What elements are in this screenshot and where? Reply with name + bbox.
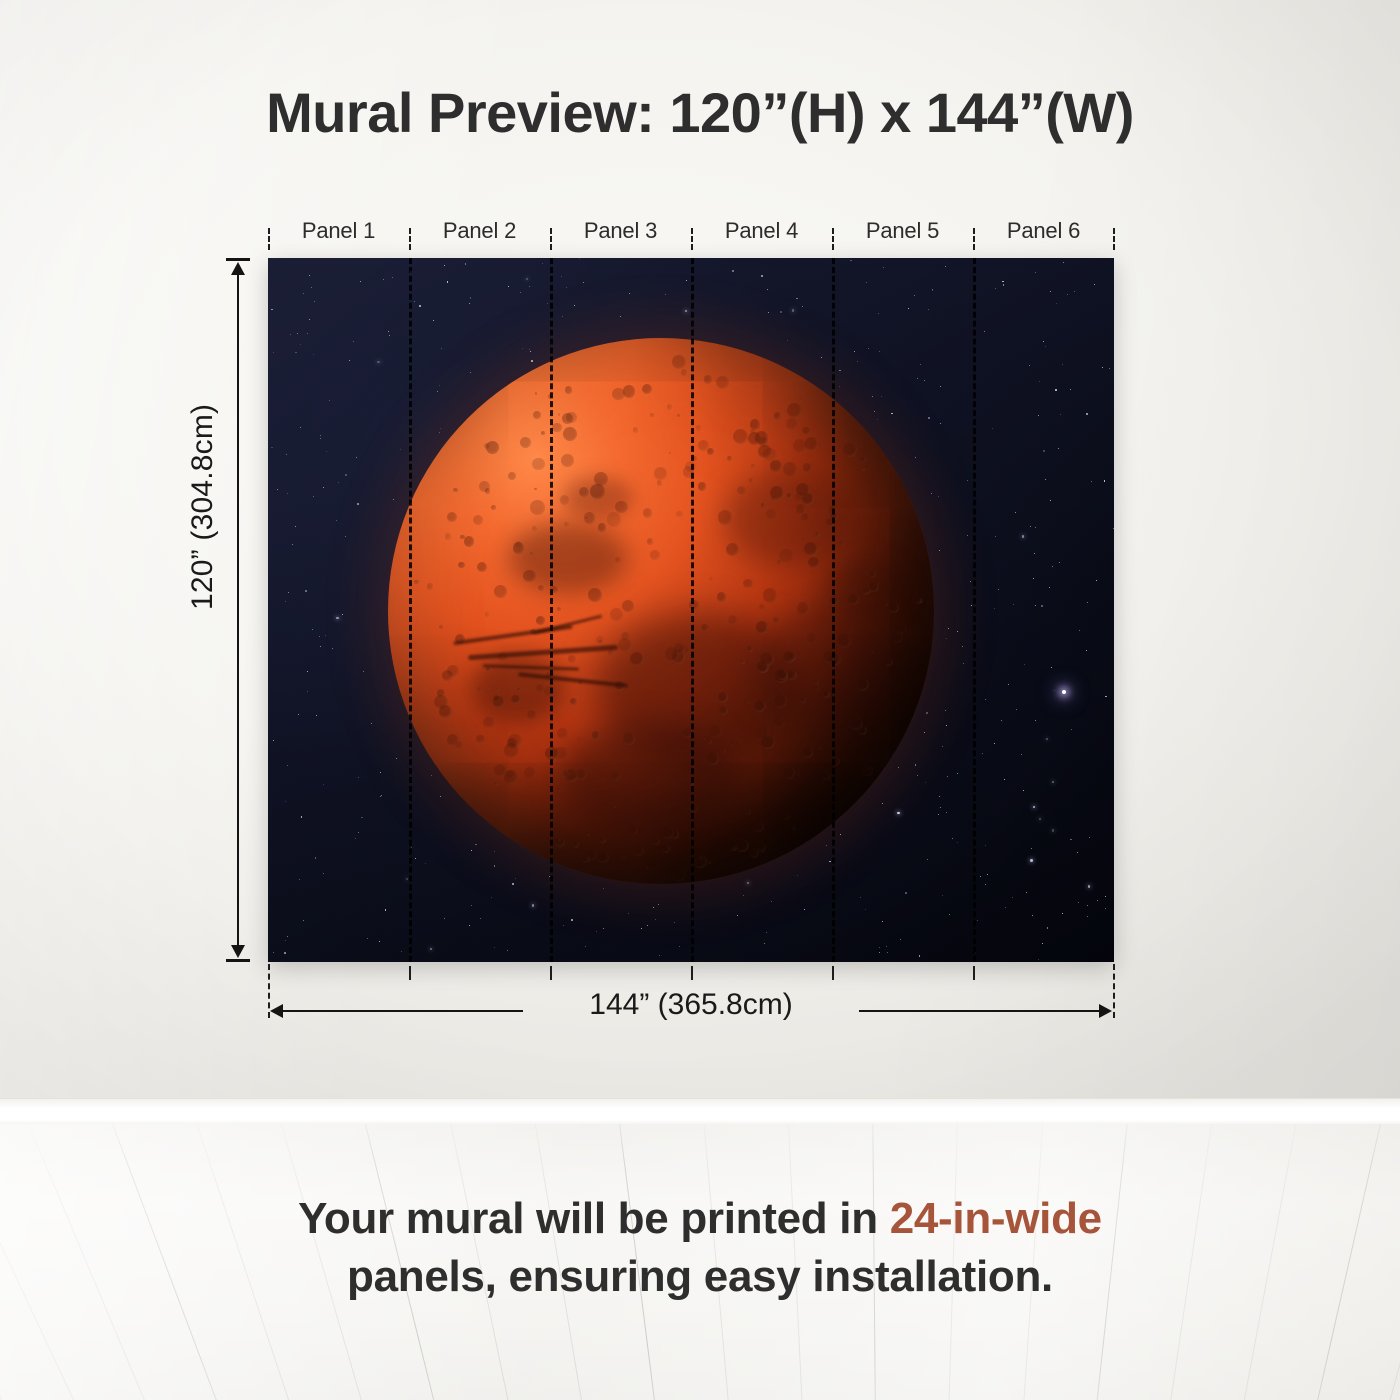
star [946,638,947,639]
star [957,842,958,843]
star [345,536,346,537]
star [957,773,958,774]
star [271,447,273,449]
star [641,928,642,929]
star [878,313,879,314]
star [1104,480,1106,482]
star [388,331,389,332]
star [1070,389,1071,390]
star [277,489,278,490]
star [908,308,909,309]
star [469,303,470,304]
star [299,879,300,880]
star [931,493,932,494]
star [285,601,286,602]
star [1087,916,1088,917]
star [512,883,514,885]
star [1059,562,1060,563]
star [444,265,445,266]
star [984,331,985,332]
width-dimension-arrow: 144” (365.8cm) [268,1000,1114,1022]
star [891,413,893,415]
star [342,614,343,615]
star [508,286,509,287]
star [1033,806,1035,808]
star [301,816,303,818]
star [925,782,926,783]
star [977,920,978,921]
star [879,351,880,352]
star [323,873,324,874]
star [802,306,803,307]
panel-bottom-tick [973,966,975,980]
star [371,723,372,724]
star [338,482,339,483]
star [1113,528,1114,529]
star [761,275,763,277]
star [771,901,772,902]
star [520,292,521,293]
star [1050,291,1051,292]
star [854,351,855,352]
star [860,897,861,898]
star [465,263,467,265]
bright-star [1062,690,1066,694]
star [674,922,675,923]
arrow-down-icon [231,945,245,958]
star [920,364,921,365]
star [381,795,382,796]
star [1050,500,1051,501]
star [515,878,516,879]
star [1031,848,1032,849]
star [396,758,397,759]
star [295,352,297,354]
star [914,295,915,296]
star [732,270,734,272]
star [401,951,402,952]
star [1070,839,1072,841]
star [946,812,947,813]
star [1030,526,1031,527]
star [307,691,308,692]
panel-divider-5 [973,258,976,962]
star [430,948,432,950]
star [1056,303,1057,304]
star [628,913,629,914]
star [329,400,330,401]
star [1060,414,1061,415]
star [743,895,744,896]
star [1094,284,1095,285]
star [320,646,321,647]
star [1088,885,1090,887]
star [1015,512,1016,513]
star [938,814,939,815]
panel-bottom-tick [409,966,411,980]
star [307,333,308,334]
star [804,909,805,910]
star [939,796,940,797]
star [447,281,449,283]
star [287,936,288,937]
star [967,480,968,481]
star [1078,902,1079,903]
panel-top-tick [973,228,975,250]
star [571,919,573,921]
star [406,878,408,880]
star [332,648,333,649]
star [942,895,943,896]
star [886,946,887,947]
star [995,536,996,537]
star [1045,346,1046,347]
star [1054,690,1055,691]
star [507,950,508,951]
star [963,663,964,664]
star [1030,859,1032,861]
panel-top-tick [268,228,270,250]
footer-caption: Your mural will be printed in 24-in-wide… [0,1190,1400,1306]
caption-accent: 24-in-wide [890,1194,1102,1243]
star [320,438,321,439]
star [850,260,852,262]
star [1087,905,1088,906]
star [312,629,313,630]
star [780,311,782,313]
star [415,858,416,859]
star [887,952,888,953]
star [320,435,321,436]
star [273,740,274,741]
star [400,449,401,450]
star [562,316,563,317]
star [323,487,324,488]
star [313,354,314,355]
star [309,319,310,320]
star [1004,779,1005,780]
star [917,378,918,379]
star [957,631,958,632]
star [985,845,986,846]
star [1047,927,1049,929]
star [1096,580,1097,581]
star [1035,527,1036,528]
star [561,276,562,277]
star [1091,481,1092,482]
star [547,303,548,304]
star [985,884,986,885]
panel-divider-4 [832,258,835,962]
star [898,767,899,768]
star [879,947,880,948]
star [1067,294,1068,295]
panel-label-6: Panel 6 [973,216,1114,250]
star [1063,262,1064,263]
star [300,427,301,428]
star [360,281,361,282]
star [1003,284,1005,286]
star [385,909,387,911]
star [1039,818,1041,820]
star [336,617,338,619]
star [526,278,528,280]
star [1021,754,1022,755]
star [942,746,943,747]
panel-top-tick [691,228,693,250]
panel-top-tick [832,228,834,250]
star [383,279,384,280]
caption-line-2: panels, ensuring easy installation. [0,1248,1400,1306]
star [1049,587,1050,588]
star [620,316,621,317]
star [1035,720,1036,721]
mural-preview-scene: Mural Preview: 120”(H) x 144”(W) Panel 1… [0,0,1400,1400]
star [982,753,983,754]
star [295,526,296,527]
star [655,919,656,920]
star [653,907,654,908]
star [389,335,390,336]
star [659,955,660,956]
star [1097,900,1098,901]
star [284,952,286,954]
star [431,775,432,776]
star [298,714,299,715]
star [940,807,941,808]
star [679,946,680,947]
star [946,725,947,726]
page-title: Mural Preview: 120”(H) x 144”(W) [0,80,1400,145]
star [938,496,939,497]
star [1002,281,1004,283]
star [287,765,288,766]
star [1074,291,1075,292]
star [868,348,869,349]
height-tick-bottom [226,959,250,962]
star [307,671,308,672]
star [290,334,291,335]
star [1041,605,1043,607]
star [1052,781,1054,783]
star [686,280,688,282]
star [952,838,953,839]
star [494,865,496,867]
height-dimension-label: 120” (304.8cm) [186,404,220,610]
star [574,305,575,306]
star [1033,578,1034,579]
star [345,474,347,476]
star [380,772,381,773]
star [313,496,314,497]
star [392,277,393,278]
star [285,940,286,941]
star [286,454,287,455]
star [882,803,883,804]
star [440,796,441,797]
star [948,628,949,629]
caption-line1-text: Your mural will be printed in [298,1194,890,1243]
star [440,428,441,429]
star [1026,892,1027,893]
star [945,710,946,711]
star [309,275,310,276]
star [480,918,481,919]
panel-bottom-tick [691,966,693,980]
star [530,351,531,352]
star [881,396,882,397]
star [1023,790,1024,791]
star [1086,650,1087,651]
star [1052,566,1053,567]
star [1035,605,1036,606]
star [596,931,597,932]
star [603,888,604,889]
star [1055,389,1057,391]
star [583,282,584,283]
star [766,932,767,933]
star [629,293,630,294]
panel-top-tick [409,228,411,250]
star [926,712,928,714]
star [470,372,471,373]
star [658,904,659,905]
star [994,608,995,609]
star [737,915,738,916]
star [1043,450,1045,452]
star [393,499,394,500]
star [325,635,326,636]
star [1102,367,1103,368]
star [872,396,873,397]
star [1105,908,1106,909]
star [470,297,472,299]
star [361,817,363,819]
star [326,451,327,452]
star [857,361,858,362]
star [1035,272,1036,273]
star [970,581,971,582]
star [305,590,307,592]
star [940,386,941,387]
star [945,266,946,267]
star [928,309,929,310]
star [323,784,324,785]
star [787,340,788,341]
star [469,925,471,927]
star [579,258,580,259]
star [1105,696,1107,698]
star [414,301,415,302]
star [1077,852,1078,853]
star [764,943,765,944]
star [927,859,928,860]
star [940,423,941,424]
star [367,938,368,939]
panel-top-tick [1113,228,1115,250]
star [1034,553,1035,554]
star [380,796,381,797]
star [471,850,472,851]
star [522,348,523,349]
star [747,882,749,884]
star [288,592,289,593]
star [897,812,899,814]
star [292,544,293,545]
mural-artwork[interactable] [268,258,1114,962]
star [419,305,421,307]
star [1039,381,1040,382]
star [303,293,304,294]
star [532,904,534,906]
star [379,941,380,942]
star [900,939,901,940]
star [985,699,986,700]
panel-divider-3 [691,258,694,962]
star [271,309,273,311]
star [1087,602,1088,603]
star [585,946,586,947]
star [840,834,841,835]
star [874,411,875,412]
height-dimension-arrow [230,258,246,962]
panel-label-1: Panel 1 [268,216,409,250]
star [1001,720,1002,721]
star [1045,479,1046,480]
star [1043,341,1044,342]
star [439,385,440,386]
star [1086,413,1088,415]
star [1029,365,1030,366]
star [319,636,320,637]
star [796,298,798,300]
star [444,918,445,919]
star [879,952,880,953]
panel-label-3: Panel 3 [550,216,691,250]
panel-divider-1 [409,258,412,962]
star [949,914,950,915]
star [273,952,274,953]
star [797,875,798,876]
width-dimension-label: 144” (365.8cm) [268,988,1114,1022]
height-tick-top [226,258,250,261]
star [363,671,364,672]
star [336,520,337,521]
caption-line-1: Your mural will be printed in 24-in-wide [0,1190,1400,1248]
star [566,287,567,288]
star [992,428,993,429]
star [542,263,543,264]
star [928,417,930,419]
star [1038,415,1039,416]
star [962,646,963,647]
panel-divider-2 [550,258,553,962]
star [883,267,884,268]
star [792,309,794,311]
star [1062,913,1063,914]
star [285,801,286,802]
panel-label-4: Panel 4 [691,216,832,250]
star [915,764,917,766]
star [1051,667,1052,668]
star [356,457,357,458]
width-dimension-line-right [859,1010,1104,1012]
star [1109,368,1110,369]
star [987,874,988,875]
star [1058,448,1059,449]
star [1038,959,1039,960]
star [529,286,530,287]
